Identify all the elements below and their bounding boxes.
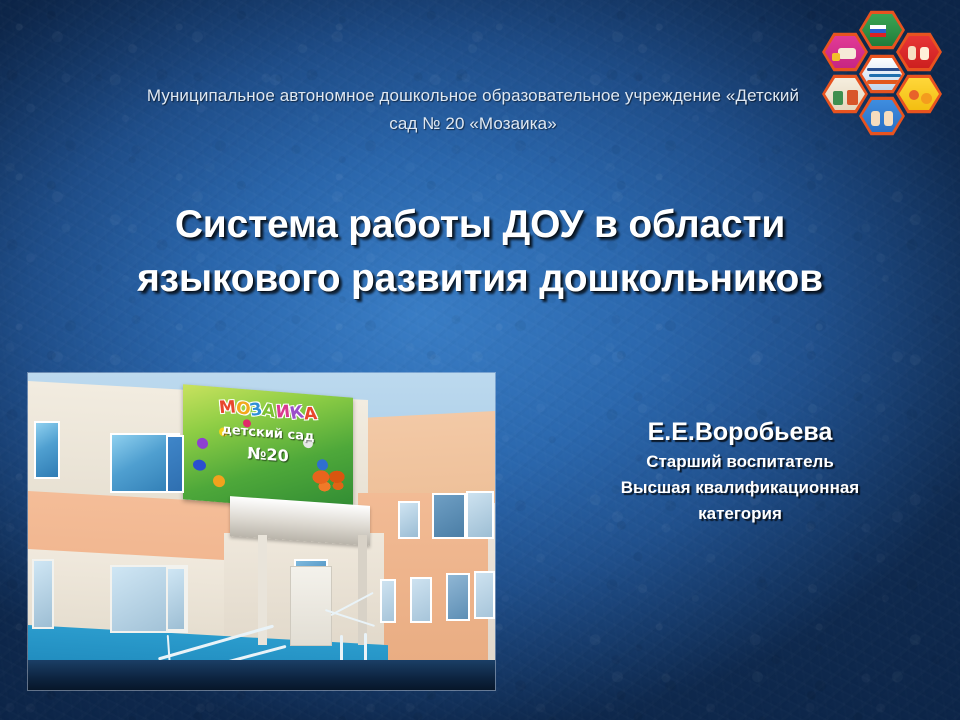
- photo-banner-sign: МОЗАИКА детский сад №20: [183, 384, 353, 512]
- banner-letter: М: [218, 399, 237, 417]
- photo-window: [446, 573, 470, 621]
- mosaic-hexagon-logo: [808, 8, 956, 120]
- author-block: Е.Е.Воробьева Старший воспитатель Высшая…: [540, 415, 940, 527]
- photo-window: [410, 577, 432, 623]
- photo-canopy-column: [358, 535, 367, 645]
- banner-letter: А: [303, 405, 318, 423]
- presentation-slide: Муниципальное автономное дошкольное обра…: [0, 0, 960, 720]
- header-line-1: Муниципальное автономное дошкольное обра…: [78, 82, 868, 110]
- author-name: Е.Е.Воробьева: [540, 415, 940, 449]
- header-line-2: сад № 20 «Мозаика»: [78, 110, 868, 138]
- photo-window: [34, 421, 60, 479]
- photo-window: [166, 435, 184, 493]
- page-title: Система работы ДОУ в области языкового р…: [60, 198, 900, 306]
- photo-window: [432, 493, 466, 539]
- photo-window: [474, 571, 495, 619]
- author-role-line-1: Старший воспитатель: [540, 449, 940, 475]
- photo-ground: [28, 660, 495, 690]
- title-line-1: Система работы ДОУ в области: [60, 198, 900, 252]
- photo-window: [398, 501, 420, 539]
- photo-entrance-door: [290, 566, 332, 646]
- kindergarten-building-photo: МОЗАИКА детский сад №20: [28, 373, 495, 690]
- author-role-line-3: категория: [540, 501, 940, 527]
- photo-window: [466, 491, 494, 539]
- title-line-2: языкового развития дошкольников: [60, 252, 900, 306]
- photo-window: [166, 567, 186, 631]
- photo-window: [380, 579, 396, 623]
- photo-window: [32, 559, 54, 629]
- author-role-line-2: Высшая квалификационная: [540, 475, 940, 501]
- institution-header: Муниципальное автономное дошкольное обра…: [78, 82, 868, 138]
